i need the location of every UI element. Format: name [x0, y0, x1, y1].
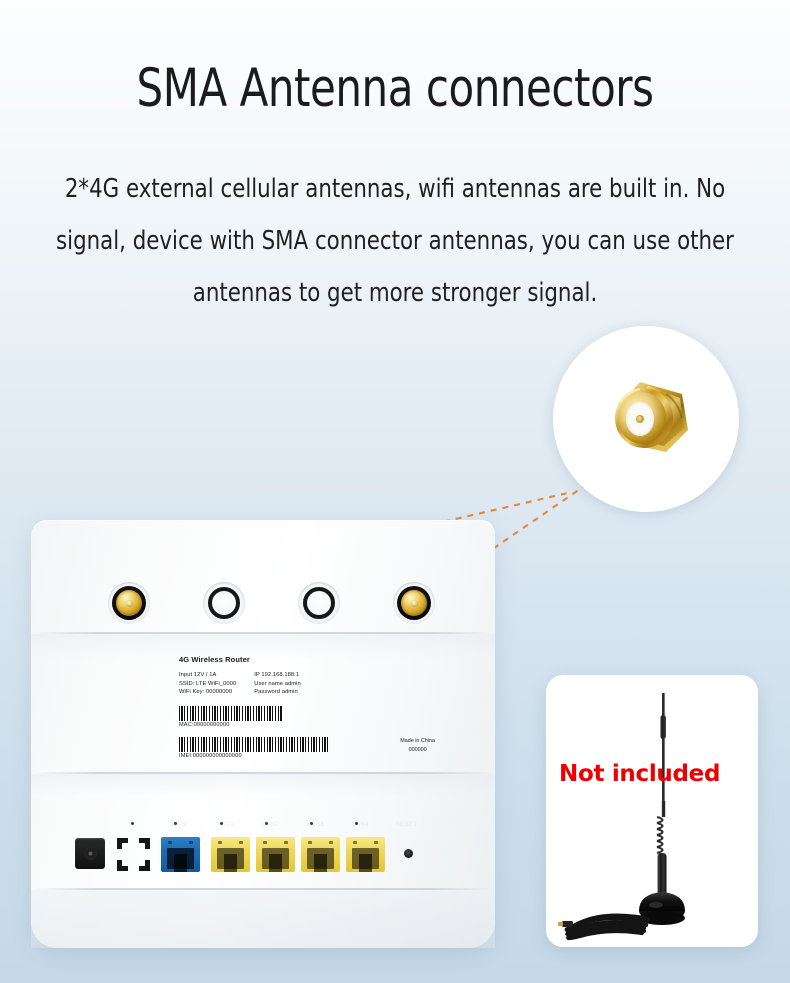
port-tab: [359, 854, 372, 872]
led-indicator: [174, 822, 177, 825]
lan-port-4[interactable]: [346, 837, 385, 872]
case-shading: [31, 890, 495, 948]
label-line-password: Password admin: [254, 688, 301, 697]
port-pin: [263, 841, 267, 844]
led-indicator: [220, 822, 223, 825]
port-bay: WAN LAN1 LAN2 LAN3 LAN4 RESET: [75, 816, 451, 884]
antenna-connector-row: [31, 582, 495, 638]
not-included-notice: Not included: [559, 761, 720, 787]
port-tab: [269, 854, 282, 872]
led-indicator: [355, 822, 358, 825]
label-line-wifikey: WiFi Key: 00000000: [179, 688, 236, 697]
sim-card-slot[interactable]: [117, 838, 150, 871]
label-line-ssid: SSID: LTE WiFi_0000: [179, 680, 236, 689]
port-pin: [239, 841, 243, 844]
page-subtitle: 2*4G external cellular antennas, wifi an…: [56, 163, 735, 319]
port-tab: [224, 854, 237, 872]
power-jack[interactable]: [75, 838, 105, 869]
label-line-ip: IP 192.168.188.1: [254, 671, 301, 680]
imei-barcode: [179, 737, 329, 752]
lan-port-2[interactable]: [256, 837, 295, 872]
port-pin: [218, 841, 222, 844]
label-title: 4G Wireless Router: [179, 655, 429, 664]
label-spec-grid: Input 12V / 1A SSID: LTE WiFi_0000 WiFi …: [179, 671, 429, 697]
antenna-accessory-panel: Not included: [546, 675, 758, 947]
label-spec-left: Input 12V / 1A SSID: LTE WiFi_0000 WiFi …: [179, 671, 236, 697]
port-label-reset: RESET: [395, 821, 418, 828]
port-pin: [284, 841, 288, 844]
made-in-china-block: Made in China 000000: [400, 737, 435, 755]
sma-center-pin-icon: [126, 600, 133, 607]
sma-connector-callout: [553, 326, 739, 512]
mac-barcode: [179, 706, 283, 721]
case-seam: [33, 888, 493, 890]
label-spec-right: IP 192.168.188.1 User name admin Passwor…: [254, 671, 301, 697]
port-tab: [314, 854, 327, 872]
sma-connector-right[interactable]: [393, 582, 435, 624]
led-indicator: [310, 822, 313, 825]
case-shading: [31, 774, 495, 796]
product-spec-label: 4G Wireless Router Input 12V / 1A SSID: …: [179, 655, 429, 759]
lan-port-1[interactable]: [211, 837, 250, 872]
wan-port[interactable]: [161, 837, 200, 872]
made-in-china-code: 000000: [400, 746, 435, 755]
port-pin: [329, 841, 333, 844]
magnetic-mount-antenna-icon: [546, 675, 758, 947]
sma-connector-photo-icon: [596, 372, 696, 466]
port-pin: [189, 841, 193, 844]
blank-ring-icon: [208, 587, 240, 619]
page-title: SMA Antenna connectors: [47, 58, 742, 119]
router-device: 4G Wireless Router Input 12V / 1A SSID: …: [31, 520, 495, 948]
port-pin: [374, 841, 378, 844]
case-seam: [33, 772, 493, 774]
made-in-china-text: Made in China: [400, 737, 435, 746]
port-pin: [308, 841, 312, 844]
port-pin: [353, 841, 357, 844]
lan-port-3[interactable]: [301, 837, 340, 872]
antenna-blank-1[interactable]: [203, 582, 245, 624]
port-pin: [168, 841, 172, 844]
mac-barcode-text: MAC:00000000000: [179, 722, 429, 728]
sma-center-pin-icon: [411, 600, 418, 607]
antenna-blank-2[interactable]: [298, 582, 340, 624]
label-line-username: User name admin: [254, 680, 301, 689]
label-line-input: Input 12V / 1A: [179, 671, 236, 680]
port-tab: [174, 854, 187, 872]
blank-ring-icon: [303, 587, 335, 619]
led-indicator: [131, 822, 134, 825]
led-indicator: [265, 822, 268, 825]
sma-connector-left[interactable]: [108, 582, 150, 624]
reset-pinhole[interactable]: [404, 849, 413, 858]
imei-barcode-text: IMEI:000000000000000: [179, 753, 429, 759]
